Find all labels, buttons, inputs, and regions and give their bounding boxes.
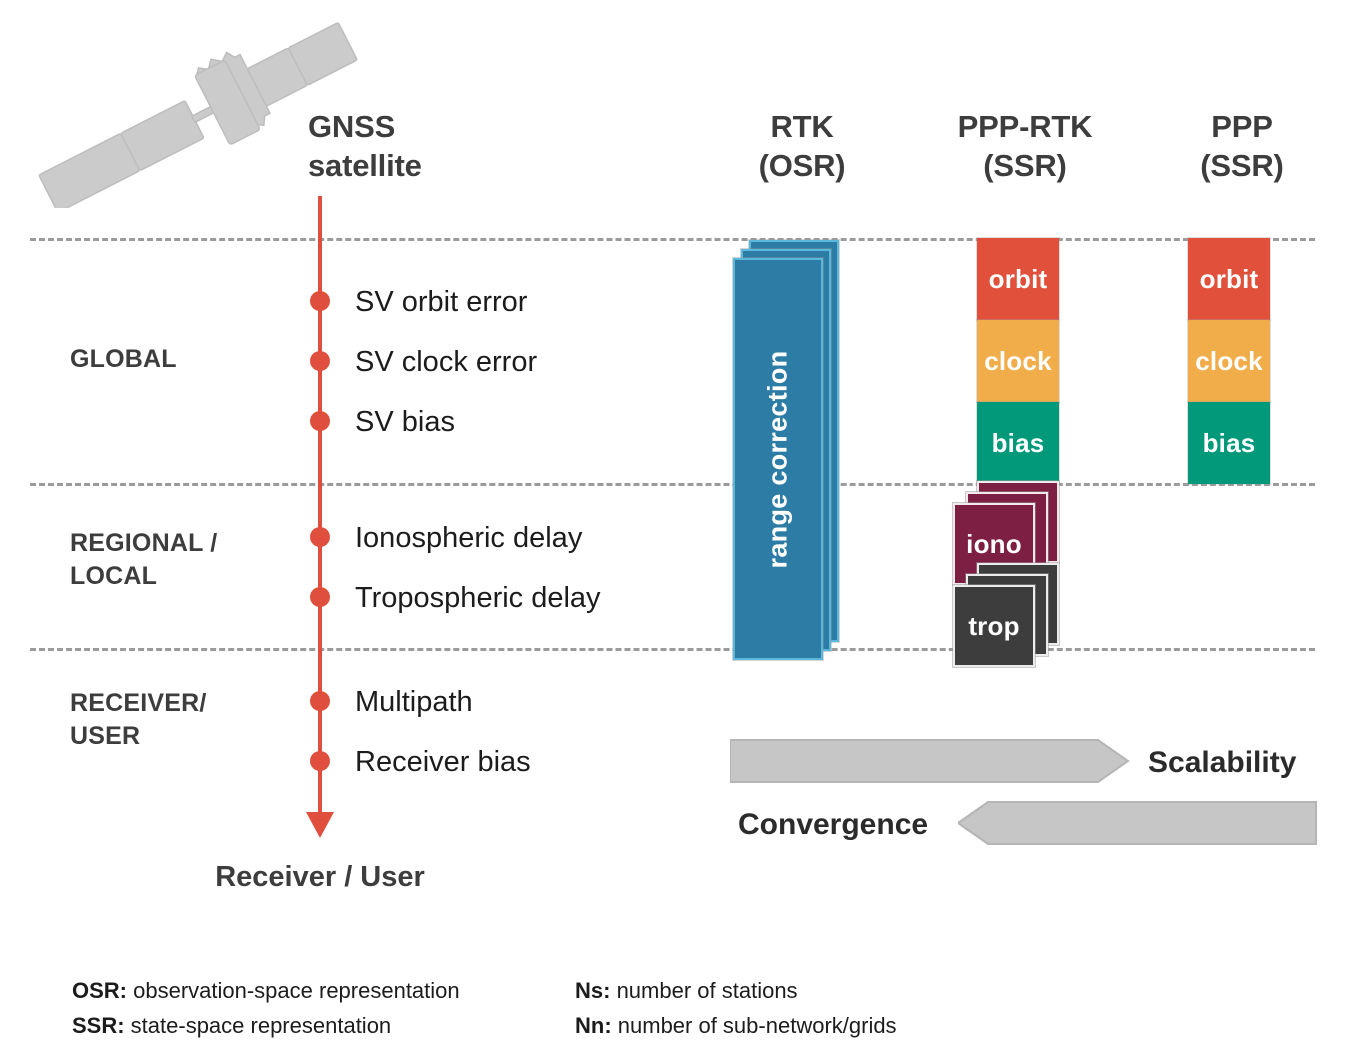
column-header-ppp-rtk: PPP-RTK (SSR) xyxy=(912,107,1138,185)
scalability-label: Scalability xyxy=(1148,746,1296,780)
legend-term-ns: Ns: xyxy=(575,978,610,1003)
ppp-segment-orbit: orbit xyxy=(1188,238,1270,320)
divider-top xyxy=(30,238,1315,241)
gnss-header-line1: GNSS xyxy=(308,107,568,146)
error-label-sv-bias: SV bias xyxy=(355,407,455,437)
band-receiver-line1: RECEIVER/ xyxy=(70,687,300,720)
ppp-segment-bias-label: bias xyxy=(1203,428,1256,459)
gnss-header-line2: satellite xyxy=(308,146,568,185)
ppprtk-header-line1: PPP-RTK xyxy=(912,107,1138,146)
rtk-range-correction-layer-front xyxy=(733,258,823,660)
rtk-header-line2: (OSR) xyxy=(711,146,893,185)
ppp-segment-clock: clock xyxy=(1188,320,1270,402)
convergence-label: Convergence xyxy=(738,808,928,842)
scalability-arrow xyxy=(730,738,1130,784)
error-source-axis-line xyxy=(318,196,322,818)
error-label-multipath: Multipath xyxy=(355,687,473,717)
diagram-canvas: GNSS satellite RTK (OSR) PPP-RTK (SSR) P… xyxy=(0,0,1352,1058)
band-label-global: GLOBAL xyxy=(70,343,300,376)
legend-item-nn: Nn: number of sub-network/grids xyxy=(575,1013,897,1039)
error-dot-tropospheric-delay xyxy=(310,587,330,607)
ppprtk-segment-bias: bias xyxy=(977,402,1059,484)
legend-item-ssr: SSR: state-space representation xyxy=(72,1013,391,1039)
error-source-axis-arrowhead xyxy=(306,812,334,838)
band-label-receiver: RECEIVER/ USER xyxy=(70,687,300,753)
error-label-sv-orbit-error: SV orbit error xyxy=(355,287,527,317)
error-label-sv-clock-error: SV clock error xyxy=(355,347,537,377)
ppprtk-iono-label: iono xyxy=(966,529,1022,560)
ppprtk-segment-clock-label: clock xyxy=(984,346,1052,377)
legend-item-osr: OSR: observation-space representation xyxy=(72,978,460,1004)
band-receiver-line2: USER xyxy=(70,720,300,753)
ppp-segment-orbit-label: orbit xyxy=(1200,264,1259,295)
error-dot-receiver-bias xyxy=(310,751,330,771)
legend-def-osr: observation-space representation xyxy=(127,978,460,1003)
error-dot-ionospheric-delay xyxy=(310,527,330,547)
error-label-receiver-bias: Receiver bias xyxy=(355,747,531,777)
error-dot-sv-orbit-error xyxy=(310,291,330,311)
divider-regional-receiver xyxy=(30,648,1315,651)
band-label-regional: REGIONAL / LOCAL xyxy=(70,527,300,593)
legend-def-ssr: state-space representation xyxy=(125,1013,392,1038)
convergence-arrow xyxy=(958,800,1318,846)
ppprtk-trop-label: trop xyxy=(968,611,1019,642)
rtk-header-line1: RTK xyxy=(711,107,893,146)
column-header-gnss: GNSS satellite xyxy=(308,107,568,185)
divider-global-regional xyxy=(30,483,1315,486)
ppprtk-segment-orbit-label: orbit xyxy=(989,264,1048,295)
receiver-user-caption: Receiver / User xyxy=(150,861,490,894)
ppprtk-segment-clock: clock xyxy=(977,320,1059,402)
legend-term-ssr: SSR: xyxy=(72,1013,125,1038)
legend-def-ns: number of stations xyxy=(610,978,797,1003)
band-regional-line1: REGIONAL / xyxy=(70,527,300,560)
ppp-segment-bias: bias xyxy=(1188,402,1270,484)
error-dot-multipath xyxy=(310,691,330,711)
ppp-header-line2: (SSR) xyxy=(1152,146,1332,185)
legend-term-osr: OSR: xyxy=(72,978,127,1003)
legend-item-ns: Ns: number of stations xyxy=(575,978,798,1004)
ppp-segment-clock-label: clock xyxy=(1195,346,1263,377)
column-header-ppp: PPP (SSR) xyxy=(1152,107,1332,185)
legend-term-nn: Nn: xyxy=(575,1013,612,1038)
band-regional-line2: LOCAL xyxy=(70,560,300,593)
ppprtk-segment-bias-label: bias xyxy=(992,428,1045,459)
error-label-tropospheric-delay: Tropospheric delay xyxy=(355,583,601,613)
error-dot-sv-bias xyxy=(310,411,330,431)
column-header-rtk: RTK (OSR) xyxy=(711,107,893,185)
legend-def-nn: number of sub-network/grids xyxy=(612,1013,897,1038)
ppprtk-segment-orbit: orbit xyxy=(977,238,1059,320)
ppprtk-trop-layer-front: trop xyxy=(953,585,1035,667)
error-label-ionospheric-delay: Ionospheric delay xyxy=(355,523,582,553)
error-dot-sv-clock-error xyxy=(310,351,330,371)
ppprtk-header-line2: (SSR) xyxy=(912,146,1138,185)
ppp-header-line1: PPP xyxy=(1152,107,1332,146)
